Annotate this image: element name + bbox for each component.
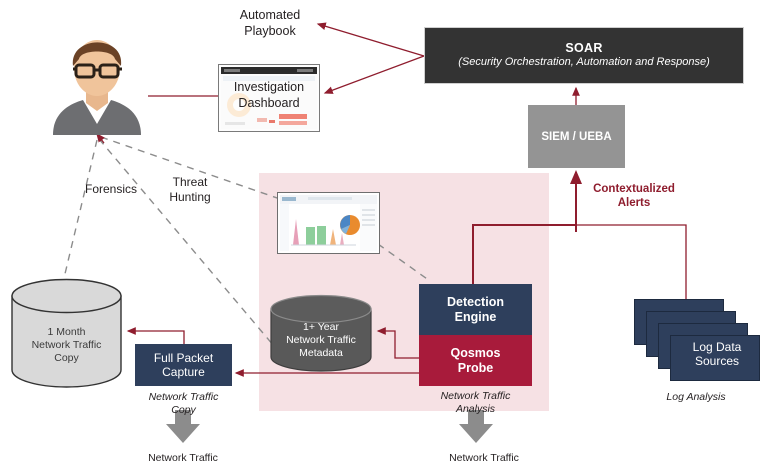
detection-engine-line2: Engine <box>455 310 497 325</box>
cylinder-top <box>271 296 371 323</box>
qosmos-probe-line1: Qosmos <box>450 346 500 361</box>
network-traffic-analysis-caption: Network Traffic Analysis <box>419 389 532 417</box>
thumb-bar-2 <box>279 121 307 125</box>
ana-sidebar <box>280 204 289 251</box>
analytics-dashboard-thumbnail[interactable] <box>277 192 380 254</box>
investigation-dashboard-label: Investigation Dashboard <box>219 79 319 111</box>
threat-hunting-label: Threat Hunting <box>158 175 222 205</box>
ana-series-green-1 <box>306 227 315 245</box>
log-data-sources-stack[interactable]: Log Data Sources <box>634 299 758 385</box>
analyst-avatar <box>45 25 149 135</box>
one-year-store-label: 1+ Year Network Traffic Metadata <box>269 321 373 360</box>
network-traffic-input-label-right: Network Traffic <box>434 452 534 465</box>
soar-acronym: SOAR <box>565 41 602 57</box>
siem-ueba-box[interactable]: SIEM / UEBA <box>528 105 625 168</box>
detection-engine-box[interactable]: Detection Engine <box>419 284 532 335</box>
full-packet-capture-caption: Network Traffic Copy <box>135 390 232 418</box>
edge-soar-to-playbook <box>318 24 424 56</box>
cylinder-top <box>12 280 121 313</box>
one-month-traffic-copy-store[interactable]: 1 Month Network Traffic Copy <box>10 278 123 388</box>
automated-playbook-label: Automated Playbook <box>210 8 330 39</box>
qosmos-probe-box[interactable]: Qosmos Probe <box>419 335 532 386</box>
edge-logs-to-alerts <box>576 225 686 300</box>
thumb-bar-1 <box>279 114 307 119</box>
detection-engine-line1: Detection <box>447 295 504 310</box>
one-year-metadata-store[interactable]: 1+ Year Network Traffic Metadata <box>269 294 373 372</box>
contextualized-alerts-label: Contextualized Alerts <box>572 182 696 211</box>
siem-ueba-label: SIEM / UEBA <box>541 131 611 143</box>
network-traffic-input-label-left: Network Traffic <box>133 452 233 465</box>
investigation-dashboard-thumbnail[interactable]: Investigation Dashboard <box>218 64 320 132</box>
soar-expansion: (Security Orchestration, Automation and … <box>458 56 710 70</box>
edge-soar-to-dashboard <box>325 56 424 93</box>
fpc-line2: Capture <box>162 365 205 379</box>
edge-analyst-forensics <box>64 140 97 278</box>
diagram-canvas: Investigation Dashboard <box>0 0 768 476</box>
one-month-store-label: 1 Month Network Traffic Copy <box>10 326 123 365</box>
edge-arrowhead-analyst <box>97 134 104 143</box>
fpc-caption-line2: Copy <box>171 404 196 417</box>
full-packet-capture-box[interactable]: Full Packet Capture <box>135 344 232 386</box>
ana-rightlist <box>360 204 377 251</box>
forensics-label: Forensics <box>72 182 150 197</box>
ana-series-green-2 <box>317 226 326 245</box>
fpc-line1: Full Packet <box>154 351 213 365</box>
nta-caption-line2: Analysis <box>456 403 495 416</box>
log-data-sources-label: Log Data Sources <box>678 340 756 369</box>
fpc-caption-line1: Network Traffic <box>149 391 219 404</box>
edge-fpc-to-onemonth <box>128 331 184 344</box>
nta-caption-line1: Network Traffic <box>441 390 511 403</box>
log-analysis-caption: Log Analysis <box>634 389 758 405</box>
soar-box[interactable]: SOAR (Security Orchestration, Automation… <box>424 27 744 84</box>
qosmos-probe-line2: Probe <box>458 361 493 376</box>
ana-pie <box>340 215 360 235</box>
